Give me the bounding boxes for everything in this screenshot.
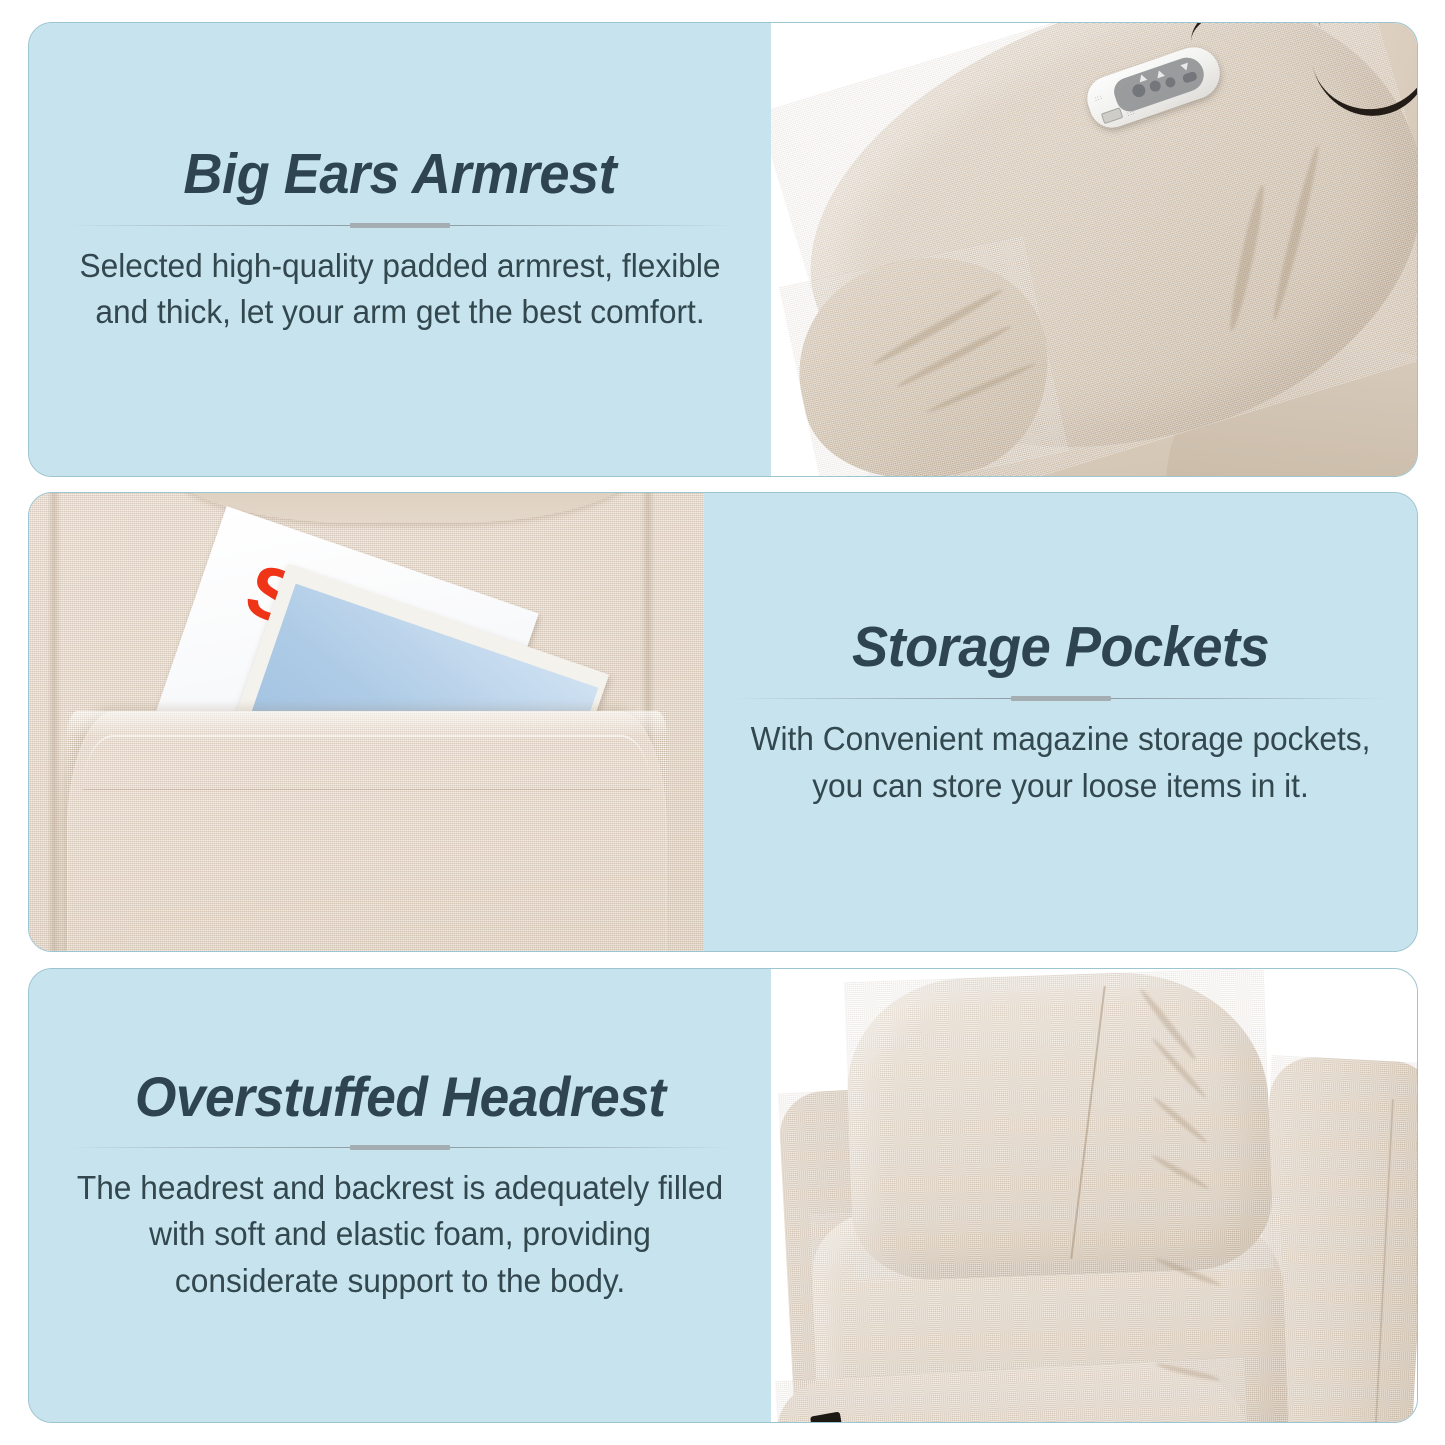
feature-panel-storage-pockets: S M SENCHUAN 08 Storage Pockets <box>28 492 1418 952</box>
headrest-bolster <box>844 969 1274 1282</box>
feature-body-text: With Convenient magazine storage pockets… <box>743 716 1378 810</box>
remote-indicator-dots: ::: <box>1094 94 1104 102</box>
heading-divider <box>63 221 737 231</box>
divider-center-nub <box>350 1145 450 1150</box>
feature-body-text: Selected high-quality padded armrest, fl… <box>76 243 723 337</box>
remote-indicator-dots: ::: <box>1127 110 1137 118</box>
side-storage-pocket-with-magazine-photo: S M SENCHUAN 08 <box>29 493 704 951</box>
fabric-texture <box>844 969 1274 1282</box>
feature-panel-armrest: Big Ears Armrest Selected high-quality p… <box>28 22 1418 477</box>
feature-heading: Storage Pockets <box>852 618 1269 678</box>
remote-usb-port <box>1101 107 1123 124</box>
feature-panel-headrest: Overstuffed Headrest The headrest and ba… <box>28 968 1418 1423</box>
heading-divider <box>63 1143 737 1153</box>
feature-text-block-headrest: Overstuffed Headrest The headrest and ba… <box>29 969 771 1422</box>
fabric-seam <box>47 493 61 951</box>
overstuffed-headrest-backrest-photo <box>771 969 1417 1422</box>
feature-text-block-armrest: Big Ears Armrest Selected high-quality p… <box>29 23 771 476</box>
infographic-page: Big Ears Armrest Selected high-quality p… <box>0 0 1445 1445</box>
divider-center-nub <box>1011 696 1111 701</box>
pocket-hem-stitch <box>83 735 651 790</box>
feature-body-text: The headrest and backrest is adequately … <box>76 1165 723 1306</box>
feature-text-block-storage: Storage Pockets With Convenient magazine… <box>704 493 1417 951</box>
armrest-cushion-with-remote-photo: ::: ::: <box>771 23 1417 476</box>
divider-center-nub <box>350 223 450 228</box>
heading-divider <box>730 694 1391 704</box>
pocket-top-edge <box>67 711 667 737</box>
feature-heading: Big Ears Armrest <box>184 145 617 205</box>
feature-heading: Overstuffed Headrest <box>135 1068 666 1127</box>
storage-pocket <box>67 711 667 951</box>
